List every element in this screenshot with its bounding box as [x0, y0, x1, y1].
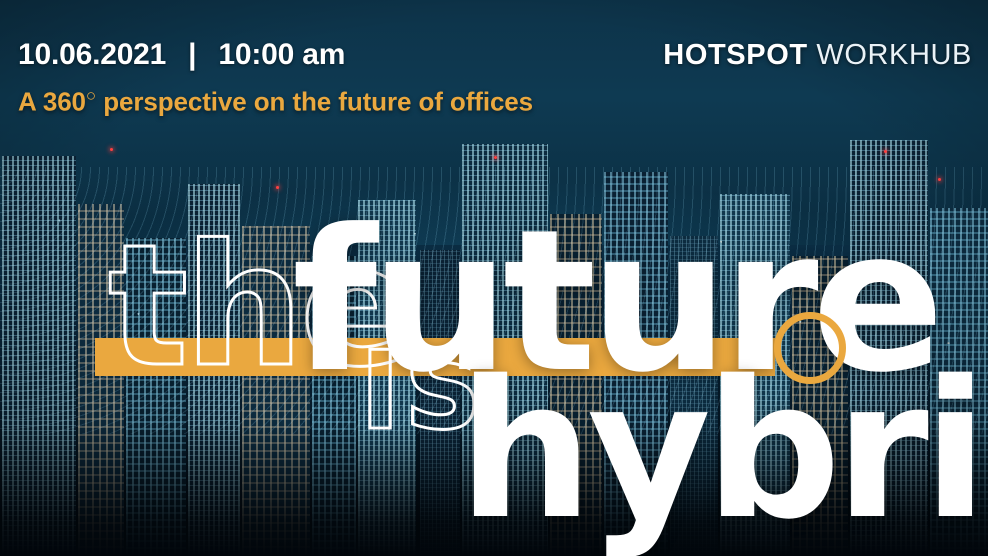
- event-subtitle: A 360○ perspective on the future of offi…: [18, 86, 972, 118]
- headline-word-hybrid: hybrid: [458, 356, 988, 546]
- event-time: 10:00 am: [218, 38, 345, 71]
- brand-name-secondary: WORKHUB: [816, 39, 972, 71]
- subtitle-part-two: perspective on the future of offices: [96, 87, 533, 117]
- subtitle-part-one: A 360: [18, 87, 86, 117]
- banner-header: 10.06.2021|10:00 am HOTSPOT WORKHUB A 36…: [0, 0, 988, 118]
- brand-name-primary: HOTSPOT: [663, 39, 807, 71]
- brand-logo: HOTSPOT WORKHUB: [663, 39, 972, 72]
- datetime-separator: |: [166, 38, 218, 72]
- header-top-row: 10.06.2021|10:00 am HOTSPOT WORKHUB: [18, 38, 972, 72]
- event-datetime: 10.06.2021|10:00 am: [18, 38, 345, 72]
- event-banner: the future IS hybrid 10.06.2021|10:00 am…: [0, 0, 988, 556]
- event-date: 10.06.2021: [18, 38, 166, 71]
- degree-icon: ○: [86, 86, 96, 105]
